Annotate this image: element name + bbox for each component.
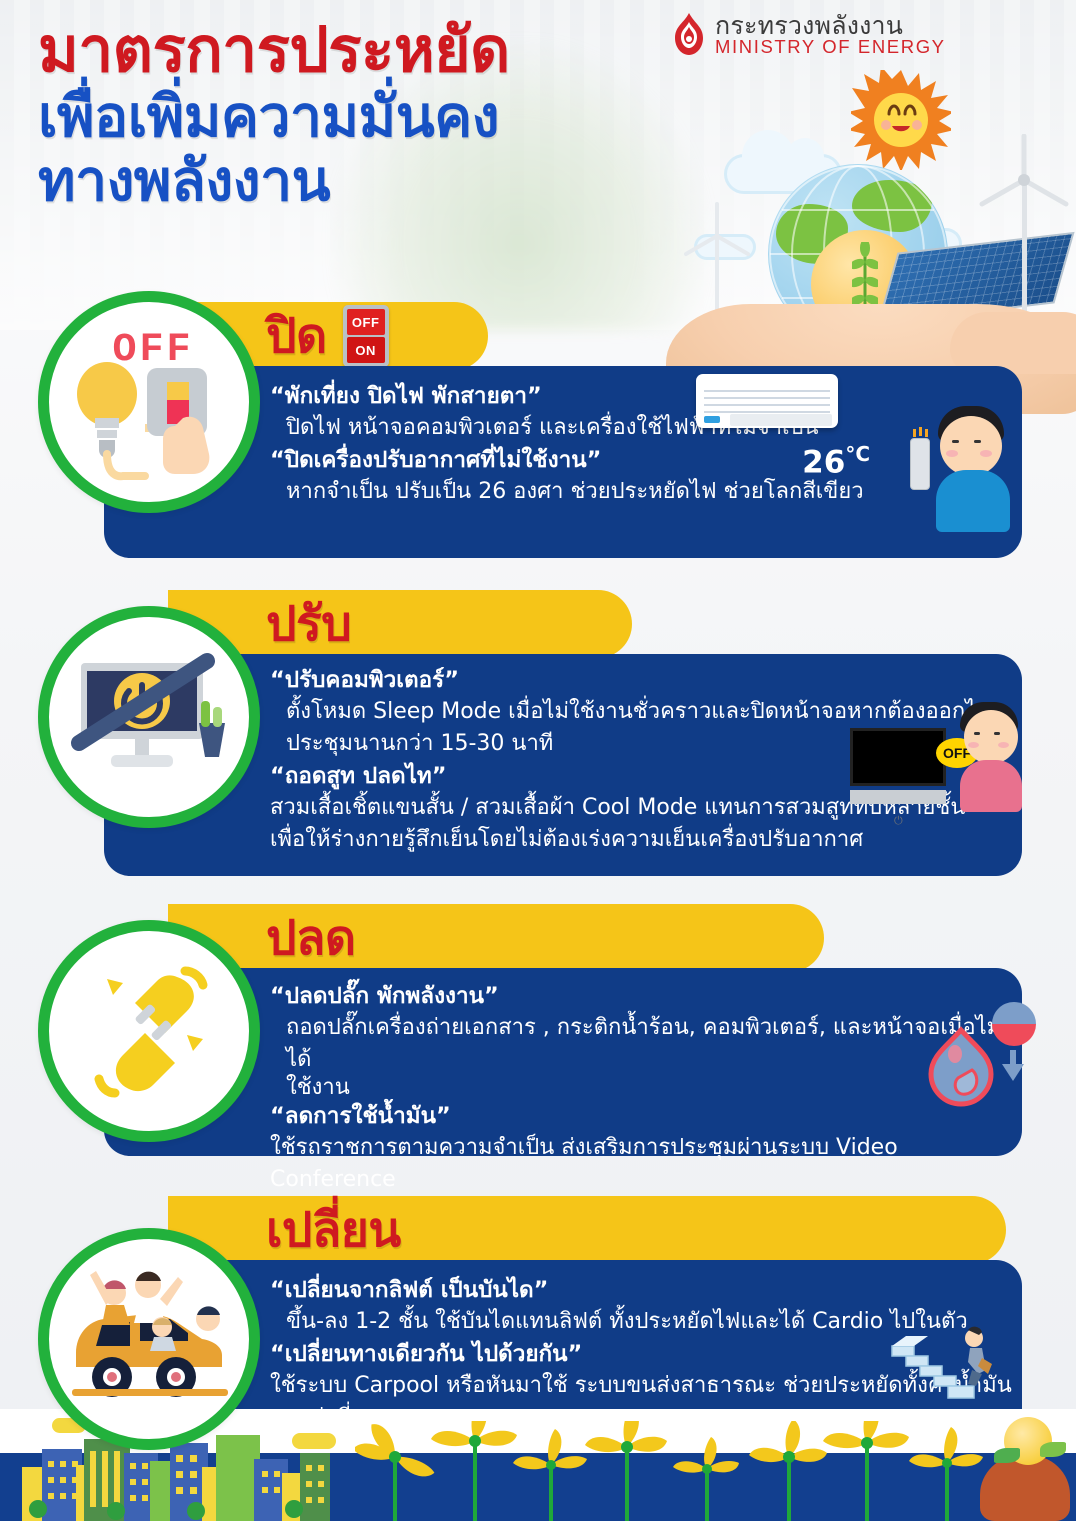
oil-drop-icon [924,1026,998,1112]
card-line: ถอดปลั๊กเครื่องถ่ายเอกสาร , กระติกน้ำร้อ… [270,1012,1022,1075]
section-title-prap: ปรับ [266,600,351,648]
badge-bulb-switch-off: OFF [38,291,260,513]
boy-with-remote-icon [930,406,1016,558]
switch-on-label: ON [347,337,385,363]
sun-icon [851,70,951,170]
card-line: “พักเที่ยง ปิดไฟ พักสายตา” [270,380,1022,412]
leaf-icon [994,1448,1020,1463]
carpool-car-icon [56,1259,242,1419]
card-line: เพื่อให้ร่างกายรู้สึกเย็นโดยไม่ต้องเร่งค… [270,824,1022,856]
section-plot: ปลด “ปลดปลั๊ก พักพลังงาน” ถอดปลั๊กเครื่อ… [0,898,1076,1162]
wind-turbine-row [355,1421,1055,1521]
bulb-switch-off-icon: OFF [61,314,237,490]
remote-control-icon [910,438,930,490]
page-title: มาตรการประหยัด เพื่อเพิ่มความมั่นคง ทางพ… [38,18,678,214]
section-pid: ปิด OFF ON “พักเที่ยง ปิดไฟ พักสายตา” ปิ… [0,296,1076,564]
section-title-plot: ปลด [266,914,356,962]
card-line: ใช้งาน [270,1076,1022,1100]
card-line: ตั้งโหมด Sleep Mode เมื่อไม่ใช้งานชั่วคร… [270,696,1022,728]
badge-monitor-power-off [38,606,260,828]
card-line: “ลดการใช้น้ำมัน” [270,1100,1022,1132]
unplugged-plug-icon [59,941,239,1121]
section-title-pid: ปิด [266,312,327,360]
card-line: ใช้รถราชการตามความจำเป็น ส่งเสริมการประช… [270,1132,1022,1195]
arrow-shaft [1010,1050,1016,1072]
temperature-label: 26°C [802,442,870,480]
card-line: “เปลี่ยนจากลิฟต์ เป็นบันได” [270,1274,1022,1306]
title-line-2: เพื่อเพิ่มความมั่นคง [38,86,678,150]
leaf-icon [1040,1442,1066,1457]
switch-off-label: OFF [347,309,385,335]
title-line-1: มาตรการประหยัด [38,18,678,82]
infographic-poster: กระทรวงพลังงาน MINISTRY OF ENERGY มาตรกา… [0,0,1076,1521]
badge-carpool-car [38,1228,260,1450]
toggle-switch-icon: OFF ON [343,305,389,367]
air-conditioner-icon [696,374,838,428]
monitor-power-off-icon [59,627,239,807]
section-prap: ปรับ “ปรับคอมพิวเตอร์” ตั้งโหมด Sleep Mo… [0,584,1076,880]
title-line-3: ทางพลังงาน [38,150,678,214]
girl-with-remote-icon [956,702,1028,842]
section-banner-prap: ปรับ [168,590,632,658]
svg-text:OFF: OFF [112,328,193,373]
stairs-climbing-icon [888,1318,998,1402]
badge-unplugged-plug [38,920,260,1142]
section-title-plian: เปลี่ยน [266,1206,401,1254]
card-line: “ปลดปลั๊ก พักพลังงาน” [270,980,1022,1012]
section-banner-plian: เปลี่ยน [168,1196,1006,1264]
wind-turbine-icon [976,134,1072,314]
monitor-off-icon: ⏻ [850,728,946,804]
card-line: “ปรับคอมพิวเตอร์” [270,664,1022,696]
reduce-oil-icon [992,1002,1036,1046]
section-banner-plot: ปลด [168,904,824,972]
